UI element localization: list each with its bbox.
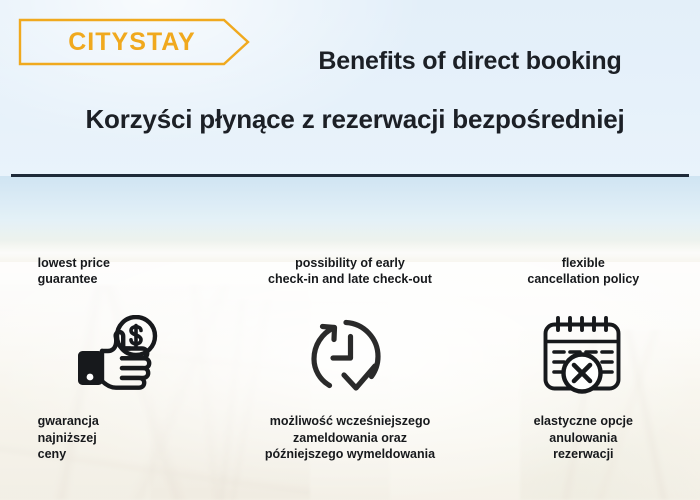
benefit-label-pl: elastyczne opcje anulowania rezerwacji: [468, 413, 698, 463]
header-band: CITYSTAY Benefits of direct booking Korz…: [0, 0, 700, 176]
page-title-english: Benefits of direct booking: [260, 47, 680, 76]
benefit-label-en-line1: lowest price: [38, 255, 188, 271]
poster-canvas: CITYSTAY Benefits of direct booking Korz…: [0, 0, 700, 500]
benefit-label-en-line2: guarantee: [38, 271, 188, 287]
benefit-label-pl-line2: anulowania: [468, 430, 698, 447]
benefit-label-pl-line3: późniejszego wymeldowania: [235, 446, 465, 463]
benefit-label-en: possibility of early check-in and late c…: [235, 255, 465, 301]
logo-wordmark: CITYSTAY: [36, 18, 228, 66]
benefit-column-early-checkin: possibility of early check-in and late c…: [233, 255, 466, 500]
benefit-icon-wrapper: [539, 309, 627, 401]
calendar-cancel-x-icon: [539, 314, 627, 396]
benefit-label-en-line1: possibility of early: [235, 255, 465, 271]
benefit-label-pl-line3: ceny: [38, 446, 188, 463]
benefit-label-en-line2: check-in and late check-out: [235, 271, 465, 287]
benefit-column-lowest-price: lowest price guarantee: [0, 255, 233, 500]
thumbs-up-dollar-coin-icon: [74, 315, 160, 395]
benefit-label-pl-line1: możliwość wcześniejszego: [235, 413, 465, 430]
benefit-label-pl-line2: zameldowania oraz: [235, 430, 465, 447]
benefit-label-pl: gwarancja najniższej ceny: [38, 413, 188, 463]
benefit-label-pl: możliwość wcześniejszego zameldowania or…: [235, 413, 465, 463]
thumbs-up-cuff-dot: [86, 374, 93, 381]
citystay-logo[interactable]: CITYSTAY: [18, 18, 250, 66]
benefit-label-pl-line2: najniższej: [38, 430, 188, 447]
benefit-label-en-line2: cancellation policy: [468, 271, 698, 287]
benefit-label-pl-line1: gwarancja: [38, 413, 188, 430]
benefit-icon-wrapper: [74, 309, 160, 401]
benefit-column-flexible-cancellation: flexible cancellation policy: [467, 255, 700, 500]
benefit-icon-wrapper: [309, 309, 391, 401]
benefit-label-en: flexible cancellation policy: [468, 255, 698, 301]
benefit-label-en: lowest price guarantee: [38, 255, 188, 301]
benefit-label-pl-line1: elastyczne opcje: [468, 413, 698, 430]
benefits-row: lowest price guarantee: [0, 255, 700, 500]
benefit-label-pl-line3: rezerwacji: [468, 446, 698, 463]
page-title-polish: Korzyści płynące z rezerwacji bezpośredn…: [40, 104, 670, 135]
header-divider: [11, 174, 689, 177]
clock-rotate-check-icon: [309, 314, 391, 396]
benefit-label-en-line1: flexible: [468, 255, 698, 271]
